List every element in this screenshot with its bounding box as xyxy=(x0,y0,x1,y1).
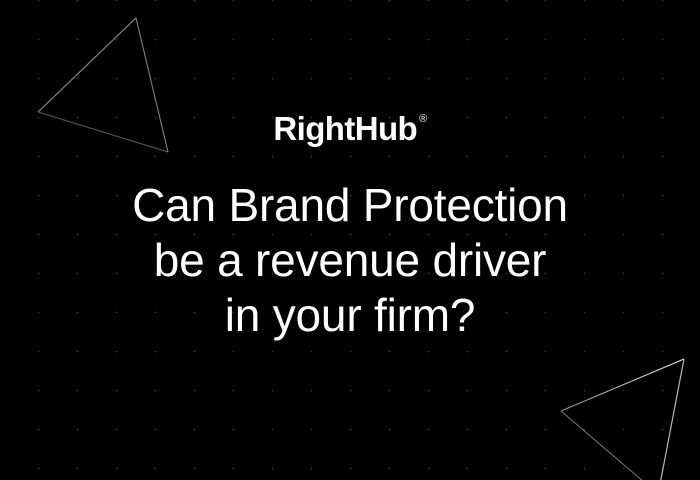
promo-card: RightHub® Can Brand Protection be a reve… xyxy=(0,0,700,480)
registered-trademark-icon: ® xyxy=(419,114,427,125)
headline: Can Brand Protection be a revenue driver… xyxy=(132,178,568,343)
brand-name: RightHub xyxy=(273,112,417,145)
headline-line-1: Can Brand Protection xyxy=(132,178,568,233)
headline-line-2: be a revenue driver xyxy=(132,233,568,288)
card-content: RightHub® Can Brand Protection be a reve… xyxy=(0,0,700,480)
brand-logo: RightHub® xyxy=(273,112,426,145)
headline-line-3: in your firm? xyxy=(132,288,568,343)
